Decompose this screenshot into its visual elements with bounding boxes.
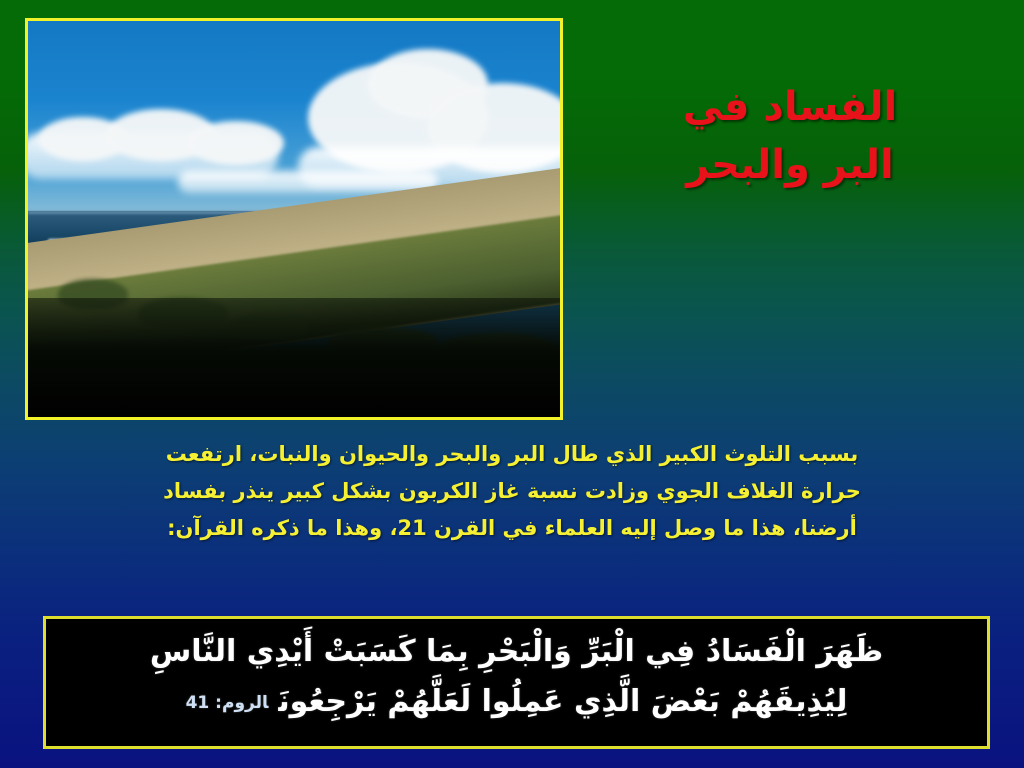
slide-title-line-2: البر والبحر: [580, 136, 1000, 194]
quran-verse-line-2-wrapper: لِيُذِيقَهُمْ بَعْضَ الَّذِي عَمِلُوا لَ…: [46, 677, 987, 728]
quran-verse-box: ظَهَرَ الْفَسَادُ فِي الْبَرِّ وَالْبَحْ…: [43, 616, 990, 749]
slide-title: الفساد في البر والبحر: [580, 78, 1000, 194]
body-paragraph-line-2: حرارة الغلاف الجوي وزادت نسبة غاز الكربو…: [20, 473, 1004, 510]
beach-coastline-photo: [28, 21, 560, 417]
body-paragraph-line-3: أرضنا، هذا ما وصل إليه العلماء في القرن …: [20, 510, 1004, 547]
presentation-slide: الفساد في البر والبحر بسبب التلوث الكبير…: [0, 0, 1024, 768]
beach-photo-frame: [25, 18, 563, 420]
slide-title-line-1: الفساد في: [580, 78, 1000, 136]
quran-verse-line-2: لِيُذِيقَهُمْ بَعْضَ الَّذِي عَمِلُوا لَ…: [278, 684, 847, 719]
quran-verse-reference: الروم: 41: [186, 693, 269, 713]
body-paragraph: بسبب التلوث الكبير الذي طال البر والبحر …: [20, 436, 1004, 547]
body-paragraph-line-1: بسبب التلوث الكبير الذي طال البر والبحر …: [20, 436, 1004, 473]
quran-verse-line-1: ظَهَرَ الْفَسَادُ فِي الْبَرِّ وَالْبَحْ…: [46, 627, 987, 677]
foreground-shadow-region: [28, 298, 560, 417]
cloud-puff-3: [188, 121, 284, 165]
